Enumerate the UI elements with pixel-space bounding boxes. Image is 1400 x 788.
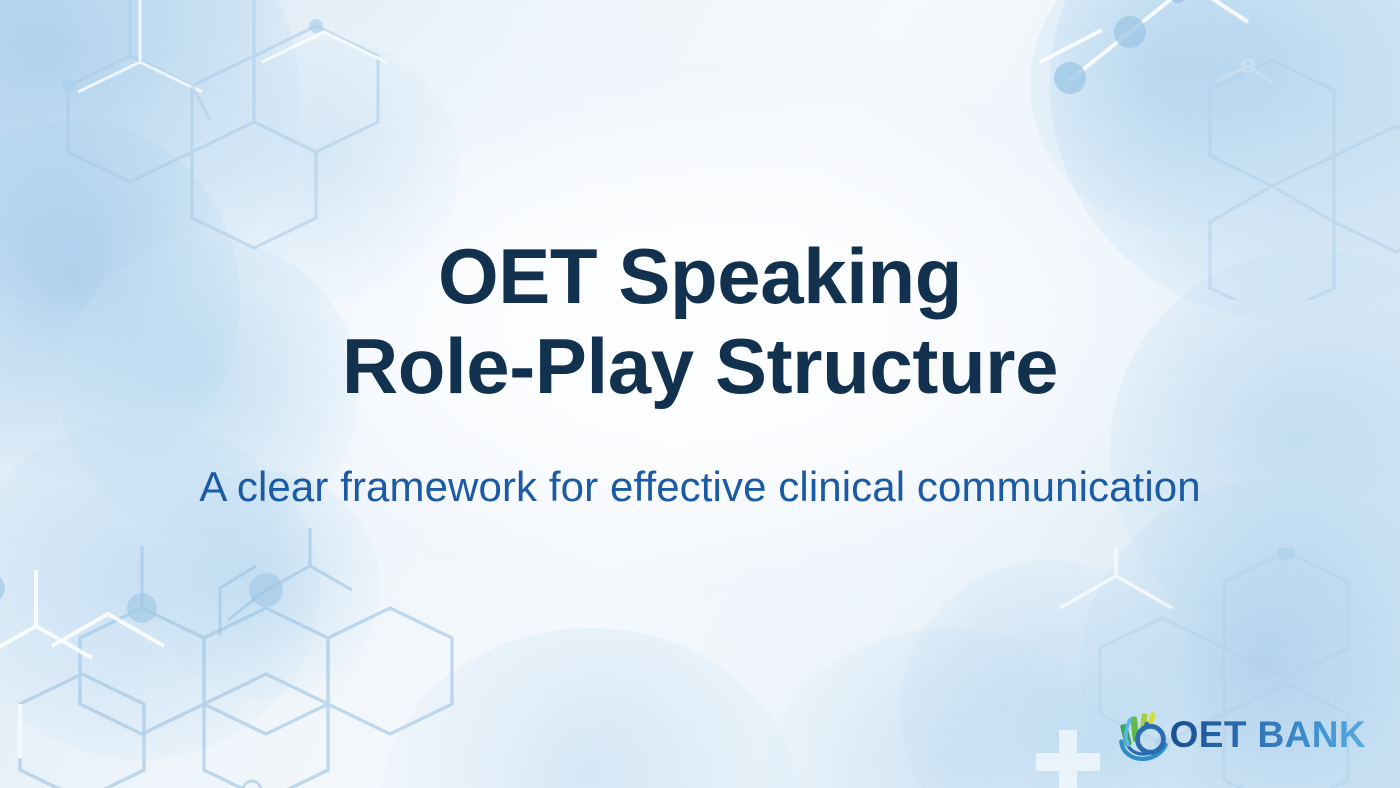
oet-bank-logo-mark-icon <box>1117 708 1171 762</box>
oet-bank-logo[interactable]: OET BANK <box>1117 708 1366 762</box>
page-subtitle: A clear framework for effective clinical… <box>199 463 1200 511</box>
title-line-2: Role-Play Structure <box>342 321 1058 411</box>
page-title: OET Speaking Role-Play Structure <box>342 231 1058 412</box>
title-line-1: OET Speaking <box>342 231 1058 321</box>
slide-content: OET Speaking Role-Play Structure A clear… <box>0 0 1400 788</box>
oet-bank-logo-text: OET BANK <box>1170 716 1366 755</box>
title-slide: OET Speaking Role-Play Structure A clear… <box>0 0 1400 788</box>
